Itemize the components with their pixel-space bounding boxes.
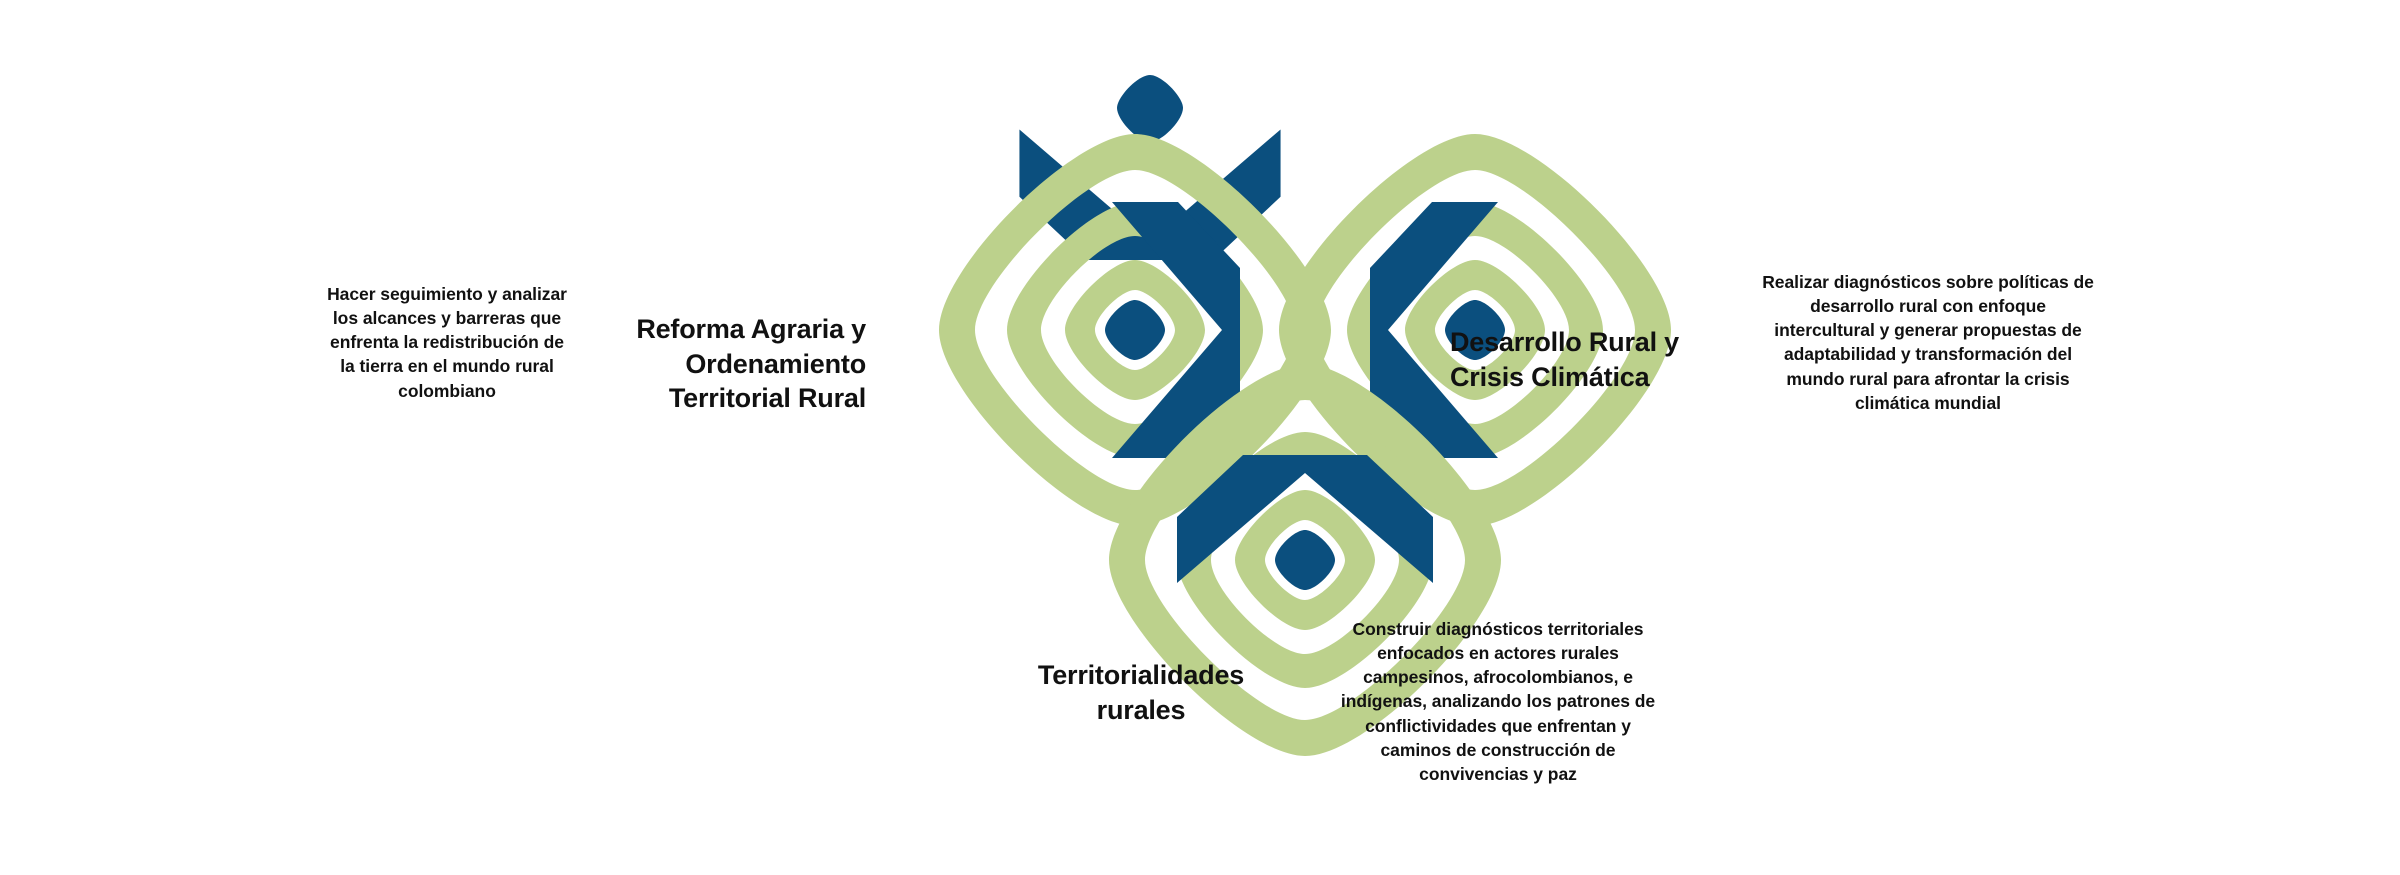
- lobe-left-title: Reforma Agraria y Ordenamiento Territori…: [598, 312, 866, 416]
- top-dot-icon: [1117, 75, 1183, 142]
- lobe-right-title: Desarrollo Rural y Crisis Climática: [1450, 325, 1718, 394]
- diagram-canvas: Hacer seguimiento y analizar los alcance…: [0, 0, 2400, 875]
- lobe-left-dot-icon: [1105, 300, 1165, 360]
- lobe-bottom-title: Territorialidades rurales: [1000, 658, 1282, 727]
- lobe-right-description: Realizar diagnósticos sobre políticas de…: [1758, 270, 2098, 415]
- lobe-bottom-description: Construir diagnósticos territoriales enf…: [1328, 617, 1668, 786]
- lobe-left-description: Hacer seguimiento y analizar los alcance…: [322, 282, 572, 403]
- lobe-bottom-dot-icon: [1275, 530, 1335, 590]
